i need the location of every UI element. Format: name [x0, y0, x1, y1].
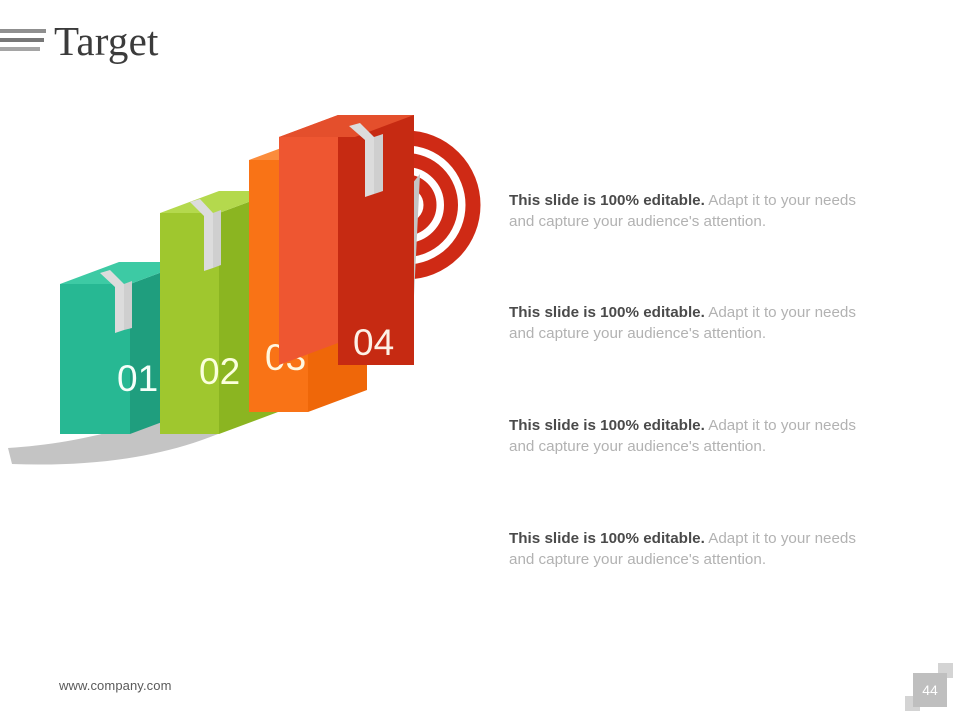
page-number: 44 [913, 673, 947, 707]
text-block-1: This slide is 100% editable. Adapt it to… [509, 190, 861, 232]
text-block-3: This slide is 100% editable. Adapt it to… [509, 415, 861, 457]
hamburger-lines-icon [0, 29, 48, 55]
slide-header: Target [0, 12, 520, 72]
slide-root: Target [0, 0, 960, 720]
text-block-1-lead: This slide is 100% editable. [509, 192, 705, 209]
target-growth-graphic: 01 02 03 [0, 90, 500, 630]
text-block-2: This slide is 100% editable. Adapt it to… [509, 302, 861, 344]
text-block-4-lead: This slide is 100% editable. [509, 530, 705, 547]
bar-04: 04 [279, 115, 414, 365]
bar-label-01: 01 [117, 358, 158, 399]
bar-label-02: 02 [199, 351, 240, 392]
bar-label-04: 04 [353, 322, 394, 363]
text-block-2-lead: This slide is 100% editable. [509, 304, 705, 321]
text-block-4: This slide is 100% editable. Adapt it to… [509, 528, 861, 570]
footer-url[interactable]: www.company.com [59, 678, 172, 693]
text-block-3-lead: This slide is 100% editable. [509, 417, 705, 434]
page-number-badge: 44 [905, 663, 953, 711]
page-title: Target [54, 12, 159, 70]
